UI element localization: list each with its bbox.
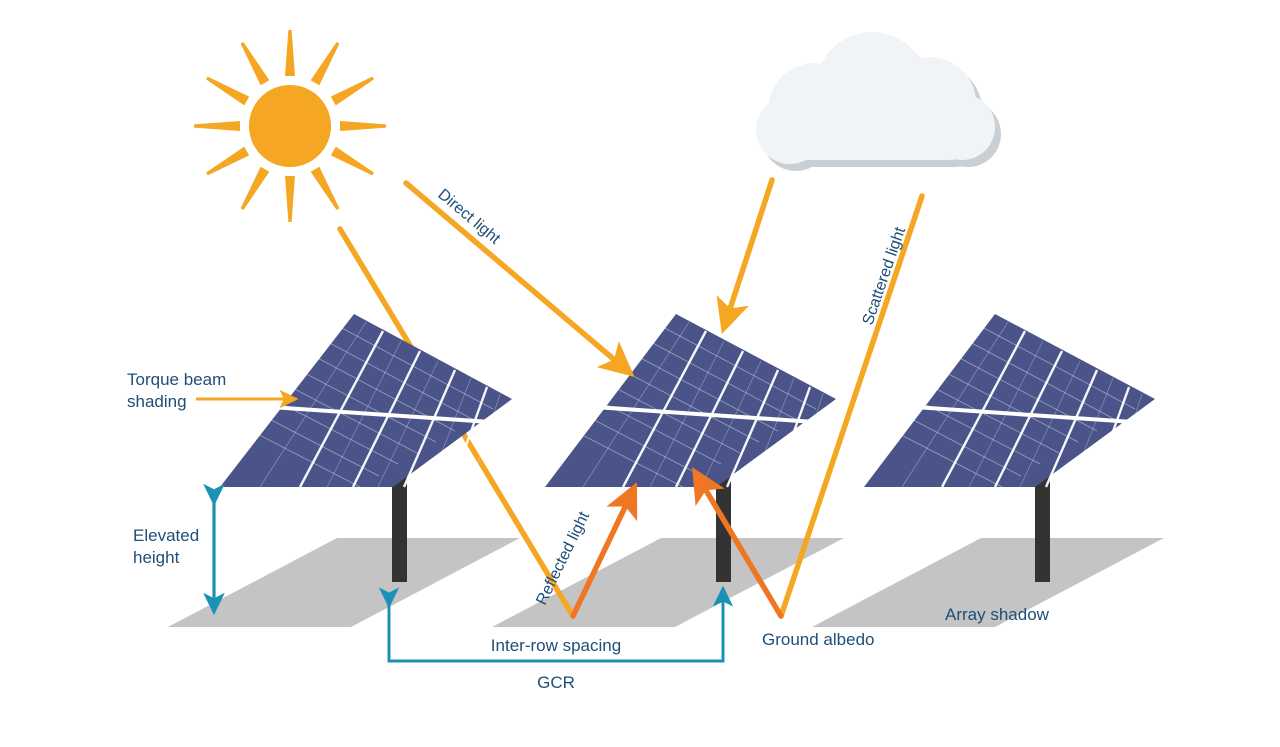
- cloud-icon: [756, 32, 1001, 171]
- array-shadow-label: Array shadow: [945, 605, 1050, 624]
- cloud-diffuse-ray: [729, 180, 772, 312]
- right-array-panel: [864, 314, 1155, 487]
- elevated-height-label: Elevated height: [133, 526, 204, 567]
- diagram-canvas: Torque beam shading Elevated height Inte…: [0, 0, 1280, 747]
- sun-icon: [194, 30, 386, 222]
- torque-beam-shading-label: Torque beam shading: [127, 370, 231, 411]
- array-shadow-left: [168, 538, 520, 627]
- inter-row-spacing-label: Inter-row spacing: [491, 636, 621, 655]
- ground-albedo-label: Ground albedo: [762, 630, 874, 649]
- solar-array-diagram: Torque beam shading Elevated height Inte…: [0, 0, 1280, 747]
- direct-light-ray: [406, 183, 617, 362]
- gcr-label: GCR: [537, 673, 575, 692]
